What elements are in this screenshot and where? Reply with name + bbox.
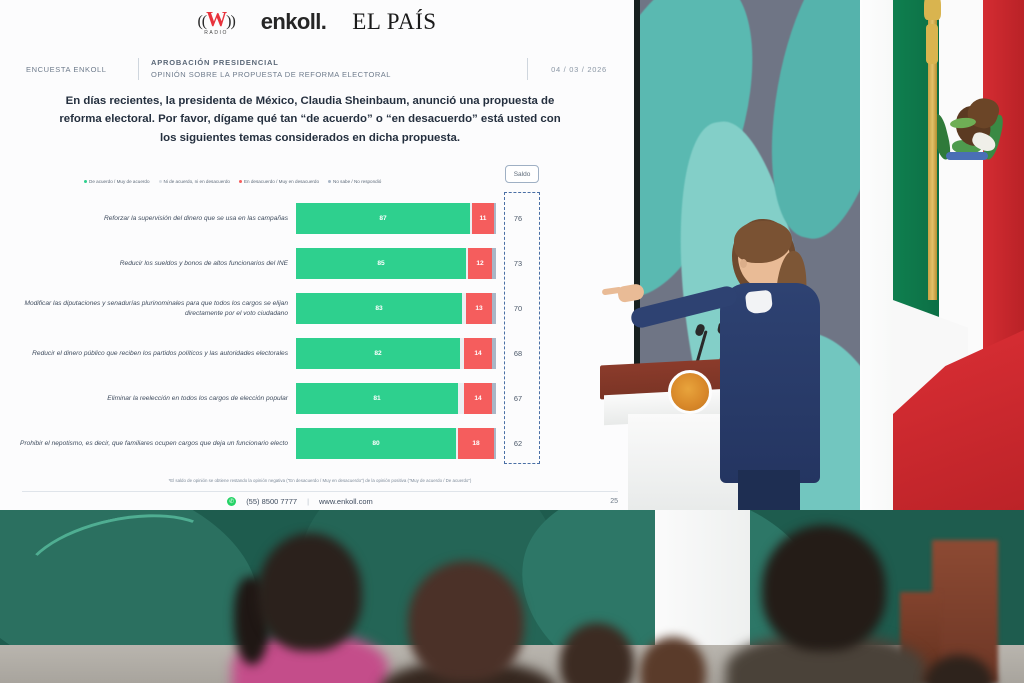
legend-item-agree: De acuerdo / Muy de acuerdo: [84, 179, 150, 184]
w-radio-sublabel: RADIO: [204, 31, 228, 36]
bar-segment-dk: [494, 203, 496, 234]
chart-row-label: Reducir el dinero público que reciben lo…: [0, 349, 296, 359]
chart-row: Reducir los sueldos y bonos de altos fun…: [0, 241, 634, 286]
chart-row-saldo: 76: [500, 214, 536, 223]
audience-member-2-head: [408, 561, 524, 681]
legend-dot-dk: [328, 180, 331, 183]
el-pais-logo: EL PAÍS: [352, 9, 436, 35]
saldo-header-box: Saldo: [505, 165, 539, 183]
slide-logo-row: ((W)) RADIO enkoll. EL PAÍS: [0, 2, 634, 42]
bar-segment-agree: 87: [296, 203, 470, 234]
chart-row-label: Modificar las diputaciones y senadurías …: [0, 299, 296, 319]
legend-label-disagree: En desacuerdo / Muy en desacuerdo: [244, 179, 319, 184]
legend-dot-disagree: [239, 180, 242, 183]
audience-member-4-head: [640, 637, 706, 683]
w-radio-mark: W: [206, 7, 226, 31]
chart-row: Reforzar la supervisión del dinero que s…: [0, 196, 634, 241]
legend-dot-agree: [84, 180, 87, 183]
slide-titles: APROBACIÓN PRESIDENCIAL OPINIÓN SOBRE LA…: [151, 57, 515, 80]
chart-row-label: Reducir los sueldos y bonos de altos fun…: [0, 259, 296, 269]
bar-segment-disagree: 11: [472, 203, 494, 234]
bar-segment-dk: [492, 248, 496, 279]
chart-row: Reducir el dinero público que reciben lo…: [0, 331, 634, 376]
chart-row-saldo: 68: [500, 349, 536, 358]
bar-segment-agree: 80: [296, 428, 456, 459]
meta-divider-left: [138, 58, 139, 80]
slide-title: APROBACIÓN PRESIDENCIAL: [151, 57, 515, 69]
bar-segment-disagree: 14: [464, 383, 492, 414]
presentation-slide: ((W)) RADIO enkoll. EL PAÍS ENCUESTA ENK…: [0, 0, 634, 512]
chart-footnote: *El saldo de opinión se obtiene restando…: [90, 478, 550, 484]
bar-segment-disagree: 14: [464, 338, 492, 369]
bar-segment-dk: [492, 338, 496, 369]
legend-item-dk: No sabe / No respondió: [328, 179, 381, 184]
bar-segment-dk: [492, 293, 496, 324]
flag-coat-of-arms: [932, 92, 1002, 170]
legend-label-neutral: Ni de acuerdo, ni en desacuerdo: [164, 179, 230, 184]
chart-row: Eliminar la reelección en todos los carg…: [0, 376, 634, 421]
slide-meta-row: ENCUESTA ENKOLL APROBACIÓN PRESIDENCIAL …: [22, 54, 618, 84]
audience-foreground: [0, 505, 1024, 683]
chart-row-saldo: 67: [500, 394, 536, 403]
legend-label-dk: No sabe / No respondió: [333, 179, 381, 184]
chart-row-saldo: 62: [500, 439, 536, 448]
w-radio-logo: ((W)) RADIO: [197, 9, 234, 36]
chart-row-label: Eliminar la reelección en todos los carg…: [0, 394, 296, 404]
audience-member-1-head: [258, 533, 362, 651]
legend-item-disagree: En desacuerdo / Muy en desacuerdo: [239, 179, 319, 184]
legend-item-neutral: Ni de acuerdo, ni en desacuerdo: [159, 179, 230, 184]
chart-row: Modificar las diputaciones y senadurías …: [0, 286, 634, 331]
stacked-bar-chart: Reforzar la supervisión del dinero que s…: [0, 196, 634, 466]
meta-divider-right: [527, 58, 528, 80]
bar-segment-agree: 85: [296, 248, 466, 279]
enkoll-logo: enkoll.: [261, 9, 327, 35]
bar-segment-agree: 83: [296, 293, 462, 324]
chart-row-saldo: 70: [500, 304, 536, 313]
bar-segment-disagree: 18: [458, 428, 494, 459]
chart-stacked-bar: 8512: [296, 248, 496, 279]
slide-page-number: 25: [578, 498, 618, 505]
slide-subtitle: OPINIÓN SOBRE LA PROPUESTA DE REFORMA EL…: [151, 69, 515, 81]
legend-label-agree: De acuerdo / Muy de acuerdo: [89, 179, 150, 184]
bar-segment-disagree: 12: [468, 248, 492, 279]
chart-legend: De acuerdo / Muy de acuerdo Ni de acuerd…: [84, 179, 504, 184]
flag-finial: [924, 0, 941, 20]
bar-segment-disagree: 13: [466, 293, 492, 324]
survey-question-text: En días recientes, la presidenta de Méxi…: [56, 92, 564, 147]
bar-segment-dk: [494, 428, 496, 459]
chart-stacked-bar: 8313: [296, 293, 496, 324]
chart-row: Prohibir el nepotismo, es decir, que fam…: [0, 421, 634, 466]
chart-row-saldo: 73: [500, 259, 536, 268]
flag-cord-tassel: [926, 24, 938, 64]
legend-dot-neutral: [159, 180, 162, 183]
chart-stacked-bar: 8114: [296, 383, 496, 414]
slide-date: 04 / 03 / 2026: [540, 65, 618, 74]
chart-stacked-bar: 8711: [296, 203, 496, 234]
chart-row-label: Reforzar la supervisión del dinero que s…: [0, 214, 296, 224]
bar-segment-dk: [492, 383, 496, 414]
chart-row-label: Prohibir el nepotismo, es decir, que fam…: [0, 439, 296, 449]
projection-screen: ((W)) RADIO enkoll. EL PAÍS ENCUESTA ENK…: [0, 0, 634, 512]
bar-segment-agree: 82: [296, 338, 460, 369]
chart-stacked-bar: 8018: [296, 428, 496, 459]
audience-member-3-head: [560, 623, 634, 683]
survey-source-label: ENCUESTA ENKOLL: [22, 65, 126, 74]
audience-member-6-head: [924, 655, 994, 683]
bar-segment-agree: 81: [296, 383, 458, 414]
scene-root: ((W)) RADIO enkoll. EL PAÍS ENCUESTA ENK…: [0, 0, 1024, 683]
speaker-figure: [690, 215, 850, 545]
chart-stacked-bar: 8214: [296, 338, 496, 369]
audience-member-5-head: [762, 525, 886, 651]
